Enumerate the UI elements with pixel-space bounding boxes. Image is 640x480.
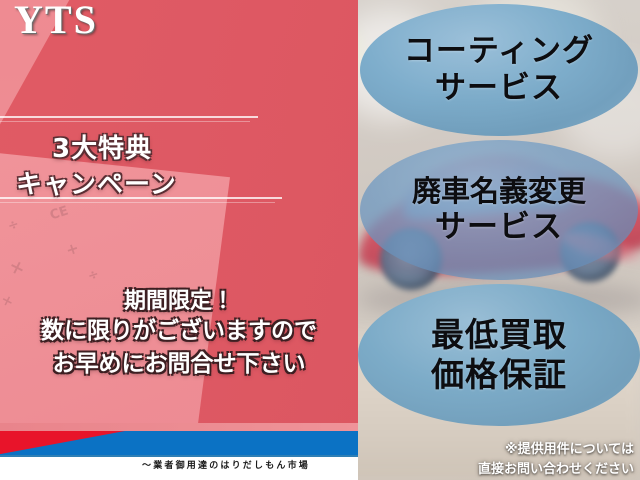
logo-tagline: 〜業者御用達のはりだしもん市場 xyxy=(142,458,358,471)
yts-logo xyxy=(0,431,358,457)
divider-bottom-faint xyxy=(0,202,275,203)
divider-top-faint xyxy=(0,121,250,122)
divider-top xyxy=(0,116,258,118)
disclaimer-note: ※提供用件については 直接お問い合わせください xyxy=(404,440,634,479)
benefit-oval-coating-service: コーティング サービス xyxy=(360,4,638,136)
benefit-3-line1: 最低買取 xyxy=(431,317,567,353)
limited-offer-line2: 数に限りがございますので xyxy=(0,311,358,345)
campaign-headline-line1: 3大特典 xyxy=(0,128,410,165)
benefit-2-line2: サービス xyxy=(435,211,563,244)
benefit-1-line1: コーティング xyxy=(404,35,594,68)
disclaimer-line2: 直接お問い合わせください xyxy=(404,460,634,480)
benefit-oval-scrapcar-nametransfer-service: 廃車名義変更 サービス xyxy=(360,140,638,280)
promo-banner: ÷ CE + × ÷ × 3大特典 キャンペーン 期間限定！ 数に限りがございま… xyxy=(0,0,640,480)
logo-brand-text: YTS xyxy=(14,0,98,43)
limited-offer-line3: お早めにお問合せ下さい xyxy=(0,344,358,378)
benefit-oval-minimum-price-guarantee: 最低買取 価格保証 xyxy=(358,284,640,426)
benefit-1-line2: サービス xyxy=(435,72,563,105)
logo-top-strip xyxy=(0,423,358,431)
benefit-3-line2: 価格保証 xyxy=(431,357,567,393)
disclaimer-line1: ※提供用件については xyxy=(404,440,634,460)
campaign-headline-line2: キャンペーン xyxy=(0,164,374,201)
left-pink-panel: ÷ CE + × ÷ × xyxy=(0,0,358,480)
benefit-2-line1: 廃車名義変更 xyxy=(412,176,586,207)
